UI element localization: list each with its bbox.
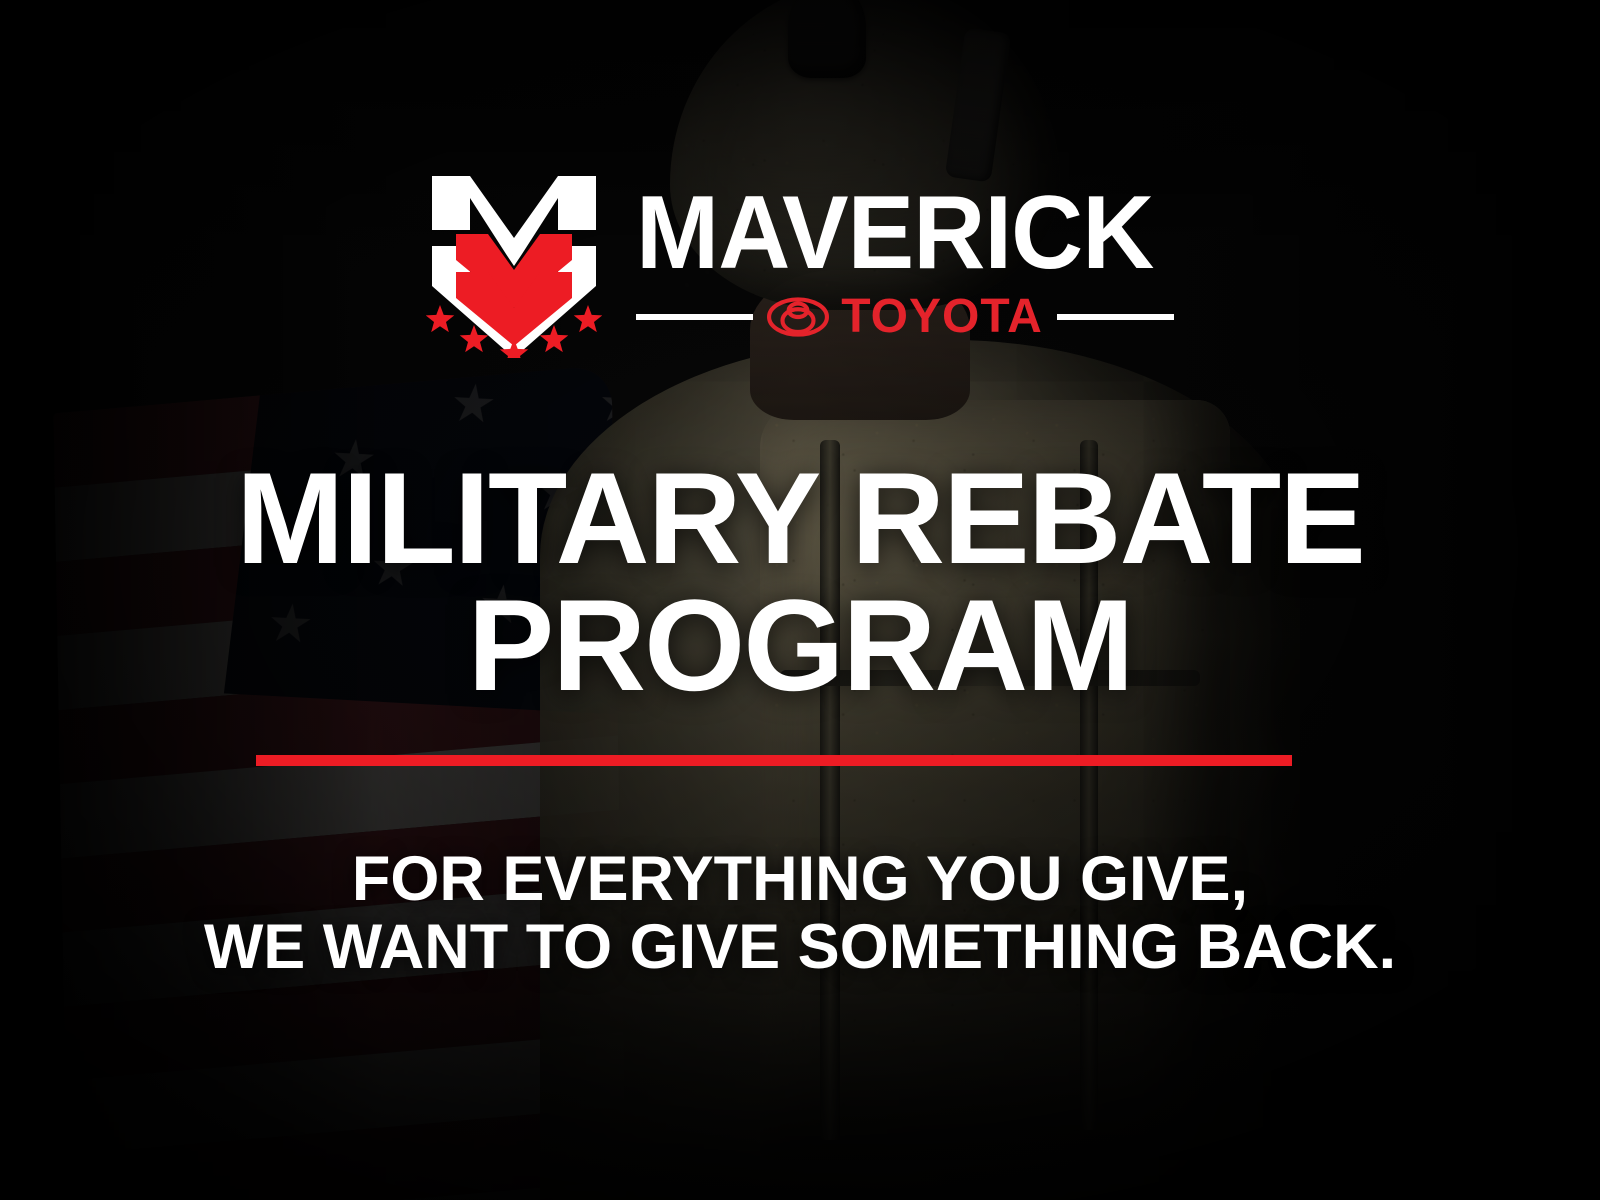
- tagline: FOR EVERYTHING YOU GIVE, WE WANT TO GIVE…: [0, 845, 1600, 981]
- brand-name: MAVERICK: [636, 185, 1153, 283]
- red-accent-divider: [256, 755, 1292, 766]
- tagline-line-1: FOR EVERYTHING YOU GIVE,: [352, 844, 1248, 914]
- toyota-ellipse-emblem-icon: [767, 296, 829, 338]
- manufacturer-name: TOYOTA: [841, 293, 1043, 341]
- headline-line-2: PROGRAM: [0, 582, 1600, 709]
- logo-star-icon: [573, 305, 601, 332]
- toyota-logo-group: TOYOTA: [767, 293, 1043, 341]
- tagline-line-2: WE WANT TO GIVE SOMETHING BACK.: [0, 913, 1600, 981]
- divider-rule-left: [636, 314, 754, 320]
- divider-rule-right: [1057, 314, 1175, 320]
- page-title: MILITARY REBATE PROGRAM: [0, 455, 1600, 710]
- headline-line-1: MILITARY REBATE: [236, 445, 1364, 591]
- military-rebate-banner: MAVERICK TOYOTA MILITARY R: [0, 0, 1600, 1200]
- brand-logo-lockup[interactable]: MAVERICK TOYOTA: [0, 168, 1600, 358]
- manufacturer-lockup: TOYOTA: [636, 293, 1175, 341]
- logo-star-icon: [426, 305, 454, 332]
- banner-content: MAVERICK TOYOTA MILITARY R: [0, 0, 1600, 1200]
- brand-wordmark-group: MAVERICK TOYOTA: [636, 185, 1175, 341]
- maverick-chevron-shield-icon: [426, 168, 602, 358]
